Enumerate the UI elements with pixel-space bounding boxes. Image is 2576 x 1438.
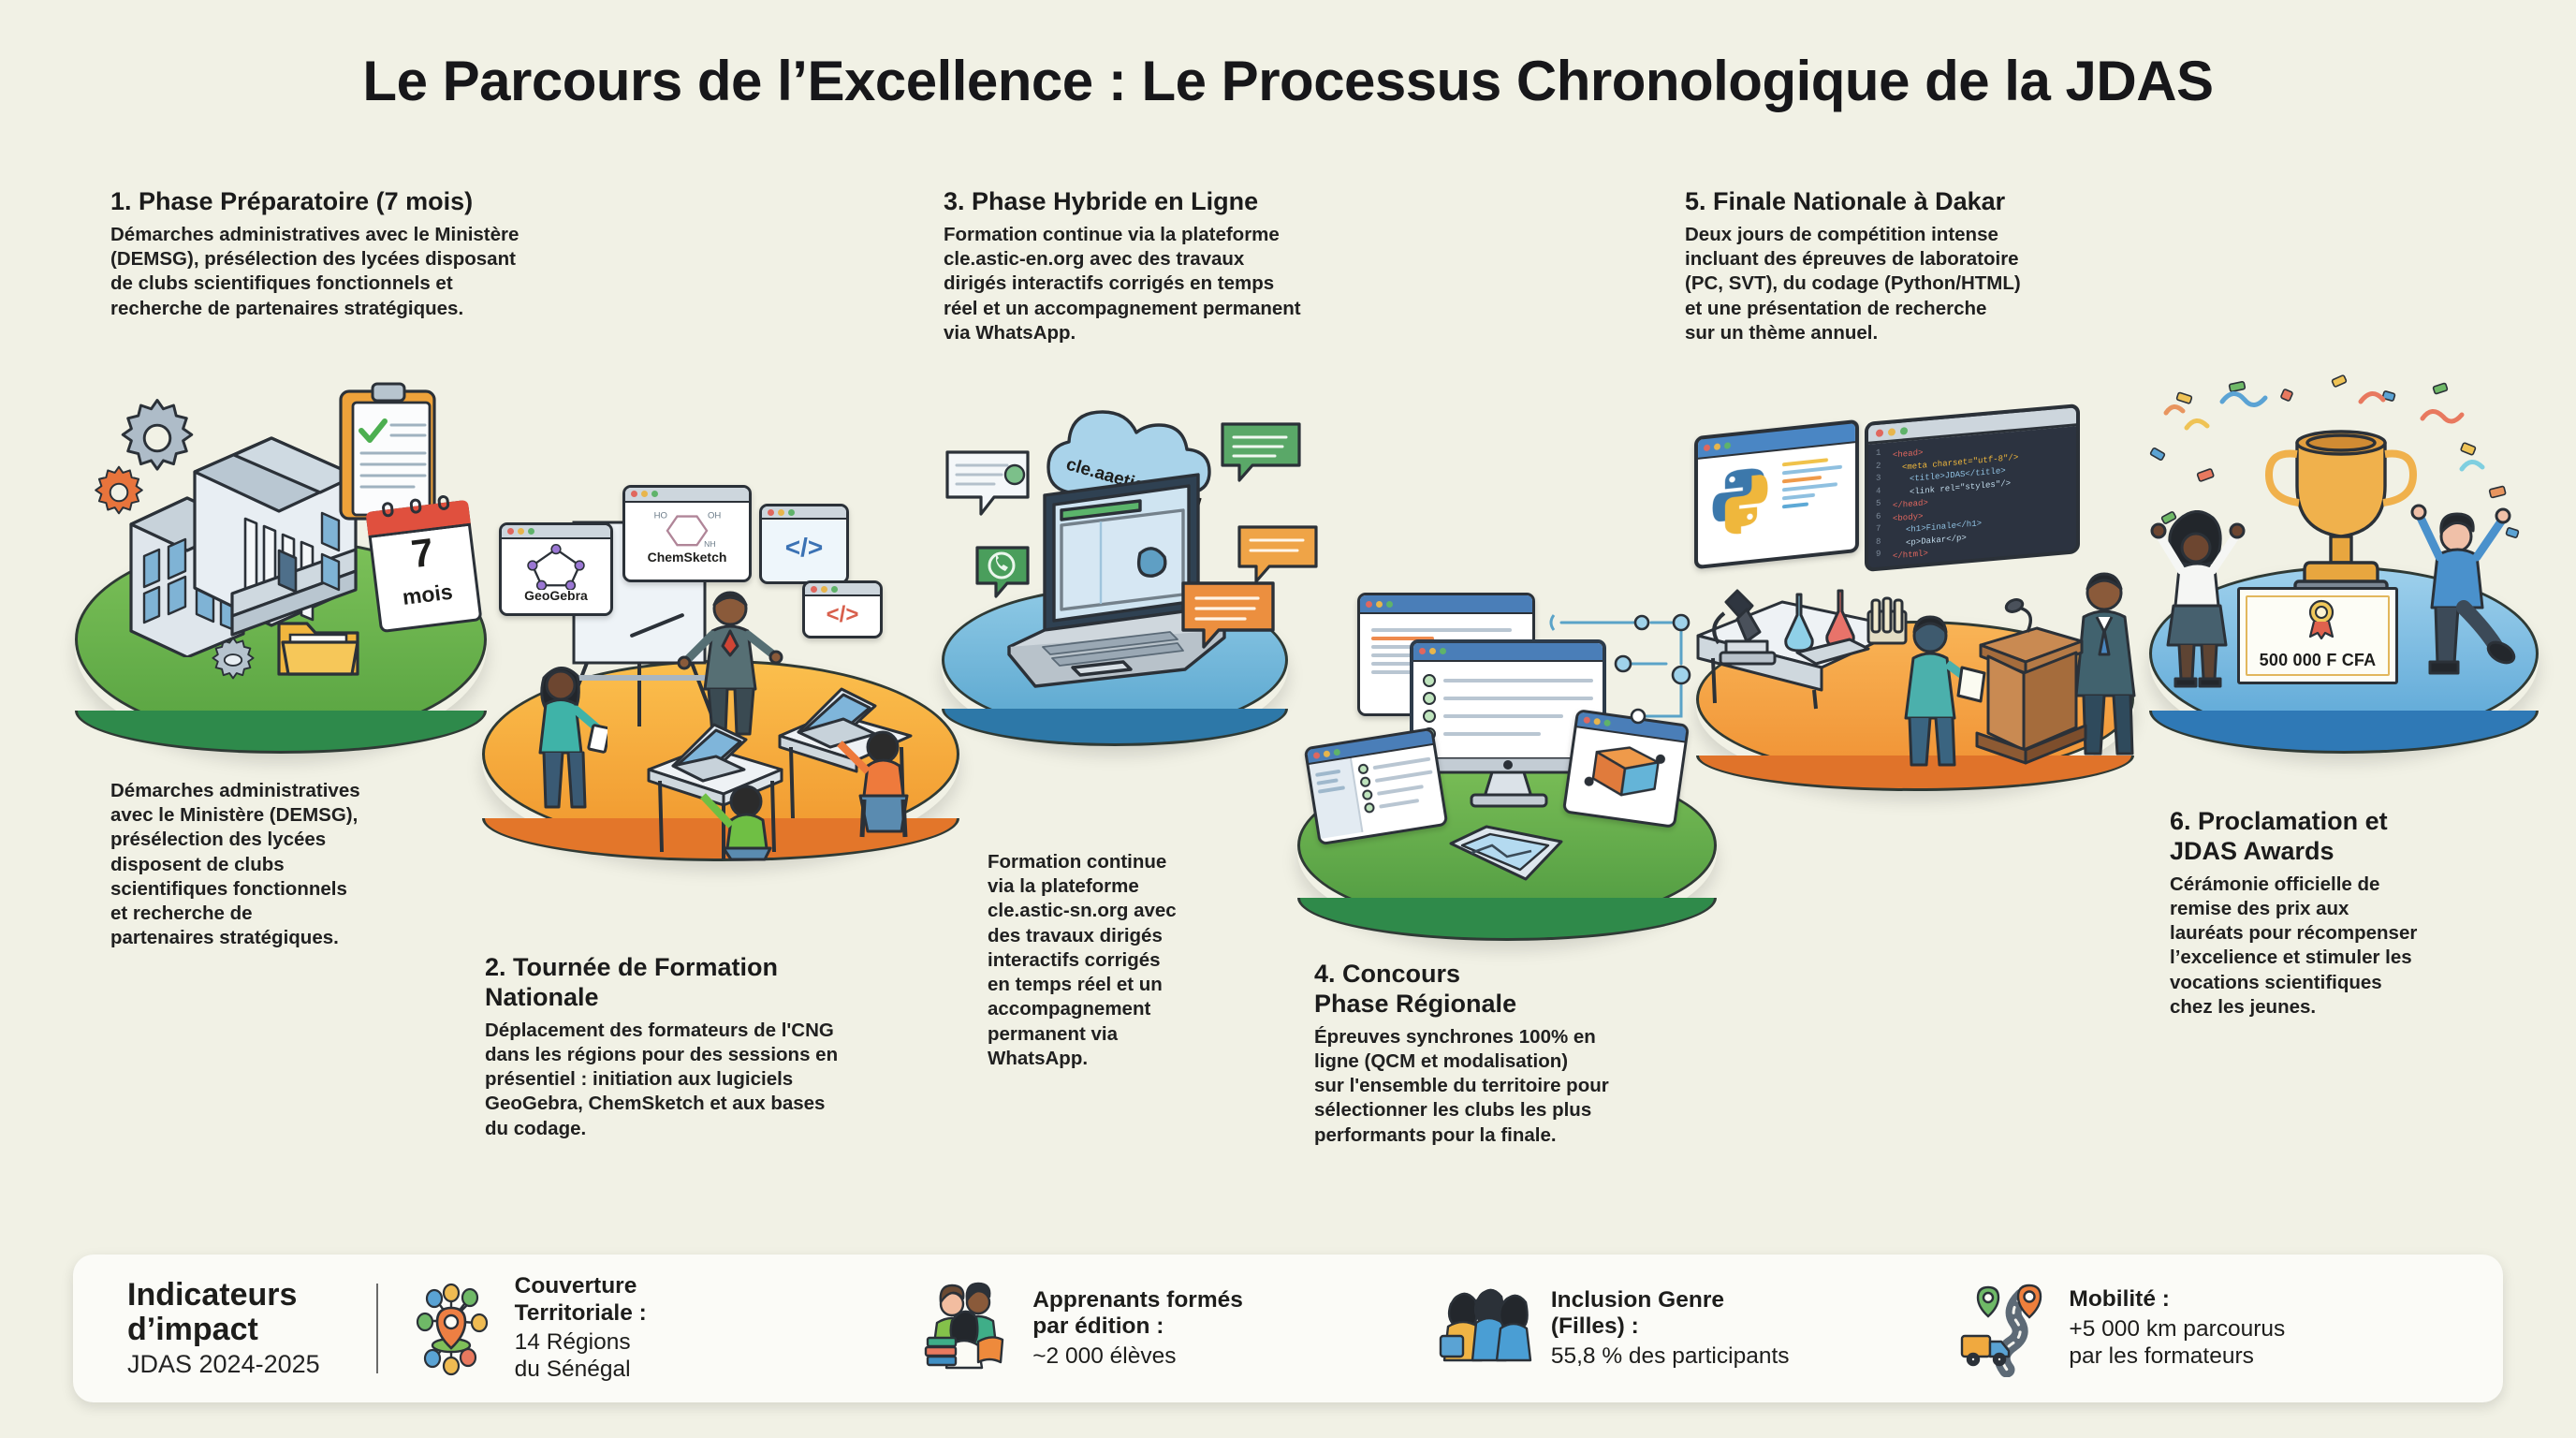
code-glyph-blue: </>	[762, 520, 846, 577]
student-with-paper-icon	[521, 657, 607, 816]
chat-bubble-orange-front-icon	[1178, 576, 1281, 654]
student-presenting-icon	[1889, 611, 1992, 770]
map-network-icon	[402, 1280, 500, 1377]
step-4-body: Épreuves synchrones 100% en ligne (QCM e…	[1314, 1025, 1735, 1148]
kpi-gender-inclusion: Inclusion Genre (Filles) : 55,8 % des pa…	[1439, 1280, 1957, 1377]
graphics-tablet-icon	[1445, 821, 1567, 887]
kpi-2-value: ~2 000 élèves	[1032, 1343, 1243, 1370]
chat-bubble-green-icon	[1217, 417, 1307, 488]
certificate-icon: 500 000 F CFA	[2237, 587, 2398, 684]
step-6-body: Cérámonie officielle de remise des prix …	[2170, 873, 2544, 1020]
step-6-heading: 6. Proclamation et JDAS Awards	[2170, 807, 2544, 867]
python-logo-screen	[1694, 419, 1859, 569]
impact-brand-title: Indicateurs d’impact	[127, 1278, 320, 1346]
lab-bench-icon	[1685, 553, 1919, 712]
step-3-text: 3. Phase Hybride en Ligne Formation cont…	[944, 187, 1468, 345]
podium-speaker-icon	[1971, 555, 2149, 775]
step-5-heading: 5. Finale Nationale à Dakar	[1685, 187, 2209, 217]
step-5-text: 5. Finale Nationale à Dakar Deux jours d…	[1685, 187, 2209, 345]
step-1-heading: 1. Phase Préparatoire (7 mois)	[110, 187, 672, 217]
step-3-caption: Formation continue via la plateforme cle…	[988, 850, 1268, 1071]
kpi-2-label: Apprenants formés par édition :	[1032, 1287, 1243, 1341]
girls-group-icon	[1439, 1280, 1536, 1377]
svg-text:HO: HO	[654, 510, 667, 521]
kpi-territorial-coverage: Couverture Territoriale : 14 Régions du …	[402, 1273, 921, 1384]
step-3-illustration: cle.aaetic-en.org	[936, 389, 1329, 763]
software-window-chemsketch: HO OH NH ChemSketch	[622, 485, 752, 582]
kpi-4-label: Mobilité :	[2069, 1286, 2285, 1313]
kpi-1-label: Couverture Territoriale :	[515, 1273, 647, 1327]
geogebra-label: GeoGebra	[502, 588, 610, 603]
kpi-1-value: 14 Régions du Sénégal	[515, 1328, 647, 1384]
whatsapp-icon	[972, 540, 1037, 602]
step-1-body: Démarches administratives avec le Minist…	[110, 223, 672, 321]
step-6-text: 6. Proclamation et JDAS Awards Cérámonie…	[2170, 807, 2544, 1020]
kpi-3-label: Inclusion Genre (Filles) :	[1551, 1287, 1790, 1341]
step-5-illustration: <head> <meta charset="utf-8"/> <title>JD…	[1674, 398, 2151, 800]
kpi-learners-trained: Apprenants formés par édition : ~2 000 é…	[920, 1280, 1439, 1377]
step-1-caption: Démarches administratives avec le Minist…	[110, 779, 466, 951]
step-1-text: 1. Phase Préparatoire (7 mois) Démarches…	[110, 187, 672, 321]
students-books-icon	[920, 1280, 1017, 1377]
step-2-body: Déplacement des formateurs de l'CNG dans…	[485, 1019, 953, 1141]
student-laptop-orange-icon	[770, 672, 939, 845]
folder-icon	[273, 609, 363, 683]
impact-brand: Indicateurs d’impact JDAS 2024-2025	[101, 1278, 352, 1379]
impact-brand-subtitle: JDAS 2024-2025	[127, 1350, 320, 1379]
step-5-body: Deux jours de compétition intense inclua…	[1685, 223, 2209, 345]
impact-indicators-bar: Indicateurs d’impact JDAS 2024-2025	[73, 1255, 2503, 1402]
step-4-illustration	[1290, 576, 1730, 950]
step-2-heading: 2. Tournée de Formation Nationale	[485, 953, 953, 1013]
kpi-3-value: 55,8 % des participants	[1551, 1343, 1790, 1370]
calendar-icon: 7 mois	[365, 500, 482, 633]
software-window-geogebra: GeoGebra	[499, 522, 613, 616]
step-3-body: Formation continue via la plateforme cle…	[944, 223, 1468, 345]
step-2-text: 2. Tournée de Formation Nationale Déplac…	[485, 953, 953, 1141]
svg-text:NH: NH	[704, 539, 715, 549]
rosette-icon	[2302, 597, 2341, 640]
python-logo-icon	[1705, 459, 1777, 537]
celebrating-man-icon	[2404, 492, 2535, 688]
html-code-screen: <head> <meta charset="utf-8"/> <title>JD…	[1865, 404, 2080, 572]
step-1-illustration: 7 mois	[56, 374, 524, 768]
page-title: Le Parcours de l’Excellence : Le Process…	[0, 49, 2576, 113]
kpi-mobility: Mobilité : +5 000 km parcourus par les f…	[1956, 1280, 2475, 1377]
divider	[376, 1284, 378, 1373]
software-window-code-red: </>	[802, 580, 883, 638]
code-glyph-red: </>	[805, 596, 880, 633]
prize-amount-label: 500 000 F CFA	[2240, 651, 2395, 670]
step-3-heading: 3. Phase Hybride en Ligne	[944, 187, 1468, 217]
step-4-text: 4. Concours Phase Régionale Épreuves syn…	[1314, 960, 1735, 1148]
step-6-illustration: 500 000 F CFA	[2132, 370, 2554, 763]
step-2-illustration: GeoGebra HO OH NH ChemSketch </>	[473, 459, 969, 871]
kpi-4-value: +5 000 km parcourus par les formateurs	[2069, 1315, 2285, 1371]
chemsketch-label: ChemSketch	[625, 550, 749, 565]
svg-text:OH: OH	[708, 510, 721, 521]
chat-bubble-white-icon	[940, 445, 1037, 525]
step-4-heading: 4. Concours Phase Régionale	[1314, 960, 1735, 1020]
window-qcm-left	[1304, 727, 1449, 846]
celebrating-woman-icon	[2147, 510, 2260, 688]
software-window-code-blue: </>	[759, 504, 849, 584]
road-truck-icon	[1956, 1280, 2054, 1377]
